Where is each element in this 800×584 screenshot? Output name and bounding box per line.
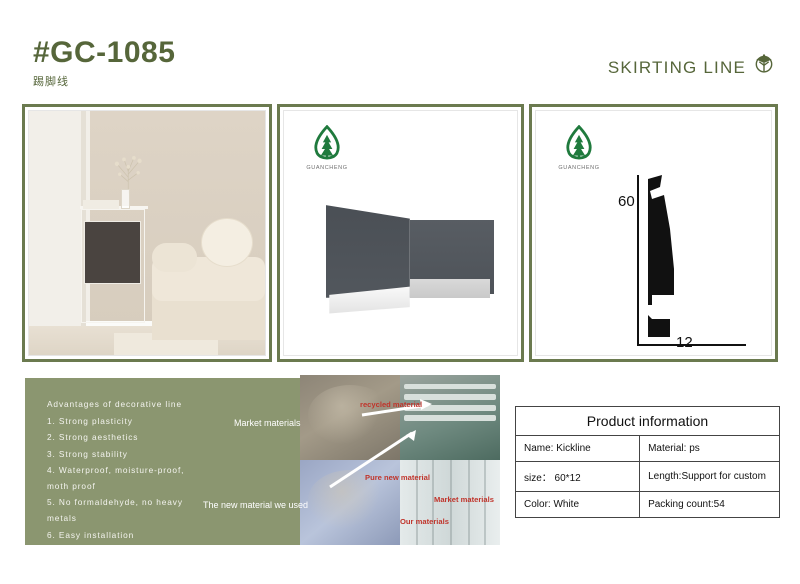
leaf-cube-logo-icon <box>752 50 776 74</box>
guancheng-leaf-pine-logo-icon <box>310 125 344 163</box>
glass-vase <box>121 189 130 209</box>
side-table-shelf <box>84 221 141 284</box>
panel-room-scene <box>22 104 272 362</box>
advantage-item: 2. Strong aesthetics <box>47 429 335 445</box>
profile-cross-section-icon <box>586 169 761 356</box>
page-header: #GC-1085 踢脚线 SKIRTING LINE <box>0 0 800 100</box>
table-cell-size: size： 60*12 <box>516 462 640 492</box>
dried-plant-icon <box>107 152 149 193</box>
advantage-item: 6. Easy installation <box>47 527 335 543</box>
product-spec-sheet: #GC-1085 踢脚线 SKIRTING LINE <box>0 0 800 584</box>
table-header-row: Product information <box>516 407 780 436</box>
panel-dimension-drawing: GUANCHENG 60 12 <box>529 104 778 362</box>
advantage-item: moth proof <box>47 478 335 494</box>
collage-label-our-materials: Our materials <box>400 517 449 526</box>
dimension-height-label: 60 <box>618 193 635 210</box>
advantages-list: Advantages of decorative line 1. Strong … <box>25 378 335 543</box>
panel-product-render-inner: GUANCHENG <box>283 110 518 356</box>
stacked-books <box>83 200 118 209</box>
dimension-drawing-area: 60 12 <box>536 111 771 355</box>
table-cell-color: Color: White <box>516 492 640 518</box>
table-cell-name: Name: Kickline <box>516 436 640 462</box>
advantages-panel: Advantages of decorative line 1. Strong … <box>25 378 335 545</box>
advantage-item: 4. Waterproof, moisture-proof, <box>47 462 335 478</box>
brand-line-label: SKIRTING LINE <box>608 58 746 78</box>
product-3d-render <box>326 201 494 313</box>
advantage-item: metals <box>47 510 335 526</box>
title-block: #GC-1085 踢脚线 <box>33 38 175 89</box>
page-title: #GC-1085 <box>33 38 175 68</box>
collage-label-market-top: Market materials <box>234 418 301 428</box>
brand-line: SKIRTING LINE <box>608 56 776 80</box>
table-row: Color: White Packing count:54 <box>516 492 780 518</box>
guancheng-logo-label: GUANCHENG <box>298 165 356 171</box>
product-information-table: Product information Name: Kickline Mater… <box>515 406 780 518</box>
interior-room-scene <box>29 111 265 355</box>
dimension-width-label: 12 <box>676 334 693 351</box>
product-information-title: Product information <box>516 407 780 436</box>
collage-label-pure-new: Pure new material <box>365 473 430 482</box>
render-skirting-right <box>410 279 491 298</box>
collage-recycled-granules-photo <box>300 375 400 460</box>
render-wall-left <box>326 201 410 298</box>
page-subtitle: 踢脚线 <box>33 73 175 89</box>
collage-label-market-materials: Market materials <box>434 495 494 504</box>
table-cell-packing-count: Packing count:54 <box>640 492 780 518</box>
panel-dimension-drawing-inner: GUANCHENG 60 12 <box>535 110 772 356</box>
table-row: Name: Kickline Material: ps <box>516 436 780 462</box>
collage-recycled-profile-photo <box>400 375 500 460</box>
table-row: size： 60*12 Length:Support for custom <box>516 462 780 492</box>
table-cell-length: Length:Support for custom <box>640 462 780 492</box>
panel-row: GUANCHENG GUANCHENG <box>0 104 800 362</box>
advantages-title: Advantages of decorative line <box>47 396 335 412</box>
round-cushion <box>201 218 253 267</box>
collage-label-new-material: The new material we used <box>203 500 308 510</box>
guancheng-logo: GUANCHENG <box>298 125 356 171</box>
advantage-item: 3. Strong stability <box>47 446 335 462</box>
panel-room-scene-inner <box>28 110 266 356</box>
panel-product-render: GUANCHENG <box>277 104 524 362</box>
table-cell-material: Material: ps <box>640 436 780 462</box>
sofa-arm <box>152 243 197 272</box>
collage-label-recycled: recycled material <box>360 400 422 409</box>
